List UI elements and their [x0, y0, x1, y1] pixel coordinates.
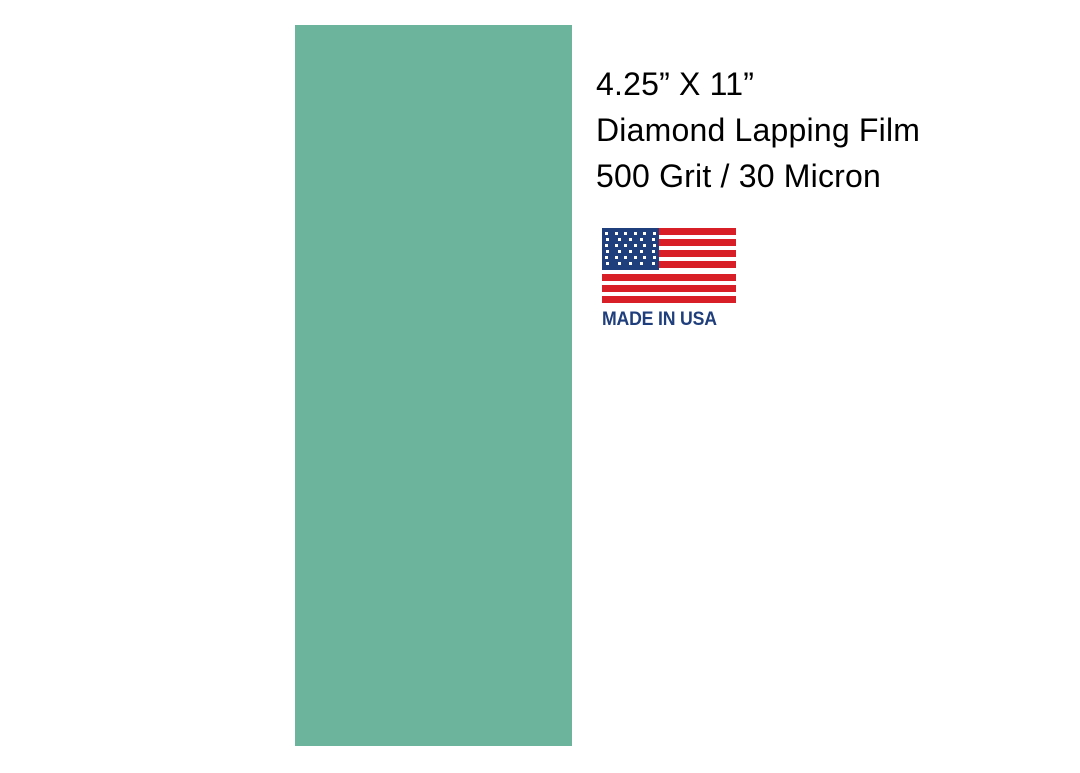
made-in-usa-badge: MADE IN USA — [602, 228, 736, 331]
made-in-usa-caption: MADE IN USA — [602, 309, 727, 331]
flag-stripe — [602, 285, 736, 292]
flag-stripe — [659, 250, 736, 257]
product-info-block: 4.25” X 11” Diamond Lapping Film 500 Gri… — [596, 61, 1016, 199]
product-size-line: 4.25” X 11” — [596, 61, 1016, 107]
product-grit-line: 500 Grit / 30 Micron — [596, 153, 1016, 199]
flag-stripe — [659, 261, 736, 268]
product-swatch-image — [295, 25, 572, 746]
flag-canton — [602, 228, 659, 270]
flag-stripe — [659, 239, 736, 246]
usa-flag-icon — [602, 228, 736, 304]
flag-stripe — [659, 228, 736, 235]
product-name-line: Diamond Lapping Film — [596, 107, 1016, 153]
flag-stripe — [602, 274, 736, 281]
flag-stripe — [602, 296, 736, 303]
